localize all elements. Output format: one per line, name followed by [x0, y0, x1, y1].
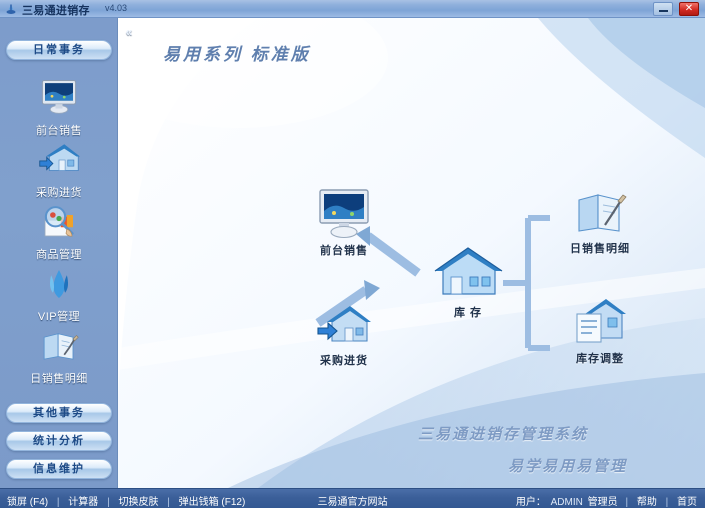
sidebar-item-daily-detail[interactable]: 日销售明细	[0, 324, 118, 386]
flow-node-daily-detail[interactable]: 日销售明细	[552, 186, 648, 256]
sidebar-item-front-sales[interactable]: 前台销售	[0, 76, 118, 138]
status-user-role: 管理员	[588, 497, 618, 508]
house-icon	[429, 246, 507, 302]
status-link-official-website[interactable]: 三易通官方网站	[317, 497, 389, 508]
status-link-open-cash-drawer[interactable]: 弹出钱箱 (F12)	[178, 497, 247, 508]
flow-node-label: 日销售明细	[552, 240, 648, 256]
status-separator: |	[102, 497, 115, 508]
status-link-help[interactable]: 帮助	[636, 497, 658, 508]
status-link-lock-screen[interactable]: 锁屏 (F4)	[6, 497, 49, 508]
monitor-icon	[316, 188, 372, 240]
magnifier-goods-icon	[38, 202, 80, 242]
status-user-prefix: 用户：	[516, 497, 546, 508]
flow-node-inventory[interactable]: 库 存	[420, 246, 516, 320]
status-link-calculator[interactable]: 计算器	[67, 497, 99, 508]
sidebar-item-label: 商品管理	[0, 246, 118, 262]
main-content: « 易用系列 标准版	[118, 18, 705, 488]
flow-node-label: 库存调整	[552, 350, 648, 366]
status-separator: |	[52, 497, 65, 508]
status-separator: |	[620, 497, 633, 508]
footer-brand-line2: 易学易用易管理	[508, 455, 627, 476]
sidebar-button-statistics[interactable]: 统计分析	[6, 431, 112, 451]
status-user-name: ADMIN	[549, 497, 585, 508]
footer-brand-line1: 三易通进销存管理系统	[418, 423, 588, 444]
sidebar: 日常事务 前台销售 采购进货	[0, 18, 118, 488]
flow-node-stock-adjust[interactable]: 库存调整	[552, 296, 648, 366]
sidebar-item-label: VIP管理	[0, 308, 118, 324]
collapse-sidebar-chevron-icon[interactable]: «	[120, 24, 138, 40]
sales-book-icon	[38, 326, 80, 366]
close-button[interactable]: ✕	[679, 2, 699, 16]
sidebar-button-other[interactable]: 其他事务	[6, 403, 112, 423]
window-version: v4.03	[105, 3, 127, 13]
flow-node-front-sales[interactable]: 前台销售	[296, 188, 392, 258]
status-link-home[interactable]: 首页	[676, 497, 698, 508]
sidebar-item-label: 采购进货	[0, 184, 118, 200]
house-in-icon	[38, 140, 80, 180]
flow-node-label: 库 存	[420, 304, 516, 320]
status-bar-left-group: 锁屏 (F4) | 计算器 | 切换皮肤 | 弹出钱箱 (F12)	[6, 493, 246, 508]
status-separator: |	[162, 497, 175, 508]
status-separator: |	[661, 497, 674, 508]
minimize-button[interactable]	[653, 2, 673, 16]
stock-adjust-icon	[572, 296, 628, 348]
window-title: 三易通进销存	[22, 2, 90, 18]
sales-book-icon	[572, 186, 628, 238]
sidebar-item-label: 日销售明细	[0, 370, 118, 386]
flow-node-label: 前台销售	[296, 242, 392, 258]
vip-flower-icon	[38, 264, 80, 304]
sidebar-button-info-maintenance[interactable]: 信息维护	[6, 459, 112, 479]
title-bar: 三易通进销存 v4.03 ✕	[0, 0, 705, 18]
status-bar-right-group: 用户： ADMIN 管理员 | 帮助 | 首页	[516, 493, 698, 508]
sidebar-item-goods[interactable]: 商品管理	[0, 200, 118, 262]
house-in-icon	[316, 298, 372, 350]
status-bar-center-group: 三易通官方网站	[317, 493, 389, 508]
flow-node-label: 采购进货	[296, 352, 392, 368]
flow-node-purchase[interactable]: 采购进货	[296, 298, 392, 368]
page-title: 易用系列 标准版	[163, 40, 311, 65]
sidebar-header-daily[interactable]: 日常事务	[6, 40, 112, 60]
app-icon	[5, 3, 17, 15]
application-window: 三易通进销存 v4.03 ✕ 日常事务 前台销售	[0, 0, 705, 508]
sidebar-item-vip[interactable]: VIP管理	[0, 262, 118, 324]
status-bar: 锁屏 (F4) | 计算器 | 切换皮肤 | 弹出钱箱 (F12) 三易通官方网…	[0, 488, 705, 508]
sidebar-item-purchase[interactable]: 采购进货	[0, 138, 118, 200]
monitor-icon	[38, 78, 80, 118]
status-link-switch-skin[interactable]: 切换皮肤	[117, 497, 159, 508]
sidebar-item-label: 前台销售	[0, 122, 118, 138]
